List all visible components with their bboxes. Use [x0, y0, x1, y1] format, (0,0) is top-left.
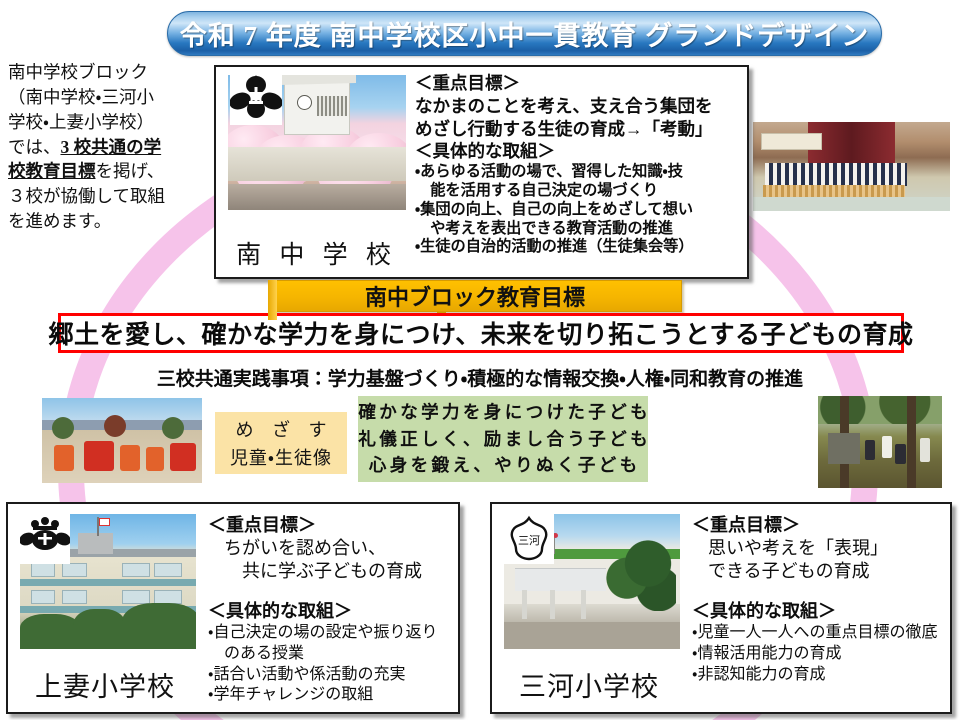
elementary-right-photo-panel: 三河 三河小学校 [492, 504, 686, 712]
intro-line-5: 校教育目標を掲げ、 [8, 159, 208, 184]
page-title-banner: 令和 7 年度 南中学校区小中一貫教育 グランドデザイン [167, 11, 882, 56]
junior-high-photo-panel: 南 中 学 校 [216, 67, 411, 277]
list-item: ・自己決定の場の設定や振り返り [208, 623, 454, 644]
elementary-left-text-panel: ＜重点目標＞ ちがいを認め合い、 共に学ぶ子どもの育成 ＜具体的な取組＞ ・自己… [202, 504, 458, 712]
elementary-left-school-name: 上妻小学校 [8, 665, 202, 704]
elementary-right-actions-list: ・児童一人一人への重点目標の徹底 ・情報活用能力の育成 ・非認知能力の育成 [692, 623, 946, 685]
elementary-right-focus-heading: ＜重点目標＞ [692, 514, 946, 537]
school-crest-icon: 三河 [504, 514, 554, 564]
intro-line-3: 学校・上妻小学校） [8, 110, 208, 135]
page-title: 令和 7 年度 南中学校区小中一貫教育 グランドデザイン [180, 14, 870, 53]
list-item: ・話合い活動や係活動の充実 [208, 665, 454, 686]
school-crest-icon [20, 514, 70, 564]
choir-performance-photo [753, 122, 950, 211]
list-item: ・児童一人一人への重点目標の徹底 [692, 623, 946, 644]
list-item: ・学年チャレンジの取組 [208, 685, 454, 706]
common-practice-items-line: 三校共通実践事項：学力基盤づくり・積極的な情報交換・人権・同和教育の推進 [0, 364, 960, 391]
elementary-left-focus-heading: ＜重点目標＞ [208, 514, 454, 537]
elementary-left-actions-list: ・自己決定の場の設定や振り返り のある授業 ・話合い活動や係活動の充実 ・学年チ… [208, 623, 454, 706]
list-item: ・非認知能力の育成 [692, 665, 946, 686]
junior-high-focus-line-2: めざし行動する生徒の育成→「考動」 [415, 118, 742, 140]
intro-line-4-pre: では、 [8, 137, 61, 157]
list-item: ・集団の向上、自己の向上をめざして想い [415, 201, 742, 220]
junior-high-focus-line-1: なかまのことを考え、支え合う集団を [415, 95, 742, 117]
junior-high-school-name: 南 中 学 校 [216, 235, 411, 271]
orange-banner-tab [268, 280, 277, 320]
main-education-goal-box: 郷土を愛し、確かな学力を身につけ、未来を切り拓こうとする子どもの育成 [58, 313, 904, 353]
junior-high-actions-list: ・あらゆる活動の場で、習得した知識・技 能を活用する自己決定の場づくり ・集団の… [415, 163, 742, 257]
ideal-image-line-1: 確かな学力を身につけた子ども [355, 399, 651, 426]
block-goal-banner-label: 南中ブロック教育目標 [365, 280, 585, 312]
intro-line-2: （南中学校・三河小 [8, 85, 208, 110]
elementary-left-actions-heading: ＜具体的な取組＞ [208, 600, 454, 623]
target-label-line-1: め ざ す [229, 416, 334, 442]
intro-emphasis-a: 3 校共通の学 [61, 137, 162, 157]
grand-design-poster: 令和 7 年度 南中学校区小中一貫教育 グランドデザイン 南中学校ブロック （南… [0, 0, 960, 720]
elementary-school-left-card: 上妻小学校 ＜重点目標＞ ちがいを認め合い、 共に学ぶ子どもの育成 ＜具体的な取… [6, 502, 460, 714]
intro-line-1: 南中学校ブロック [8, 60, 208, 85]
sports-day-photo [42, 398, 202, 483]
community-cleanup-photo [818, 396, 942, 488]
intro-line-4: では、3 校共通の学 [8, 135, 208, 160]
list-item: 能を活用する自己決定の場づくり [415, 182, 742, 201]
junior-high-school-card: 南 中 学 校 ＜重点目標＞ なかまのことを考え、支え合う集団を めざし行動する… [214, 65, 749, 279]
list-item: や考えを表出できる教育活動の推進 [415, 220, 742, 239]
block-goal-banner: 南中ブロック教育目標 [268, 280, 682, 312]
svg-text:三河: 三河 [518, 534, 540, 547]
ideal-image-line-2: 礼儀正しく、励まし合う子ども [355, 426, 651, 453]
target-student-image-label: め ざ す 児童・生徒像 [215, 412, 347, 474]
list-item: ・あらゆる活動の場で、習得した知識・技 [415, 163, 742, 182]
elementary-right-school-name: 三河小学校 [492, 665, 686, 704]
school-crest-icon [230, 73, 282, 125]
elementary-right-focus-line-1: 思いや考えを「表現」 [692, 537, 946, 560]
elementary-school-right-card: 三河 三河小学校 ＜重点目標＞ 思いや考えを「表現」 できる子どもの育成 ＜具体… [490, 502, 952, 714]
junior-high-text-panel: ＜重点目標＞ なかまのことを考え、支え合う集団を めざし行動する生徒の育成→「考… [411, 67, 747, 277]
list-item: ・情報活用能力の育成 [692, 644, 946, 665]
list-item: ・生徒の自治的活動の推進（生徒集会等） [415, 238, 742, 257]
junior-high-actions-heading: ＜具体的な取組＞ [415, 141, 742, 162]
main-education-goal-text: 郷土を愛し、確かな学力を身につけ、未来を切り拓こうとする子どもの育成 [49, 315, 914, 351]
intro-emphasis-b: 校教育目標 [8, 161, 96, 181]
elementary-right-text-panel: ＜重点目標＞ 思いや考えを「表現」 できる子どもの育成 ＜具体的な取組＞ ・児童… [686, 504, 950, 712]
elementary-right-actions-heading: ＜具体的な取組＞ [692, 600, 946, 623]
intro-line-5-post: を掲げ、 [96, 161, 165, 181]
elementary-left-focus-line-2: 共に学ぶ子どもの育成 [208, 560, 454, 583]
list-item: のある授業 [208, 644, 454, 665]
ideal-image-line-3: 心身を鍛え、やりぬく子ども [365, 452, 640, 479]
elementary-left-photo-panel: 上妻小学校 [8, 504, 202, 712]
elementary-right-focus-line-2: できる子どもの育成 [692, 560, 946, 583]
target-label-line-2: 児童・生徒像 [230, 444, 332, 470]
junior-high-focus-heading: ＜重点目標＞ [415, 73, 742, 94]
intro-paragraph: 南中学校ブロック （南中学校・三河小 学校・上妻小学校） では、3 校共通の学 … [8, 60, 208, 234]
intro-line-7: を進めます。 [8, 209, 208, 234]
ideal-student-images-box: 確かな学力を身につけた子ども 礼儀正しく、励まし合う子ども 心身を鍛え、やりぬく… [358, 396, 648, 482]
elementary-left-focus-line-1: ちがいを認め合い、 [208, 537, 454, 560]
intro-line-6: ３校が協働して取組 [8, 184, 208, 209]
